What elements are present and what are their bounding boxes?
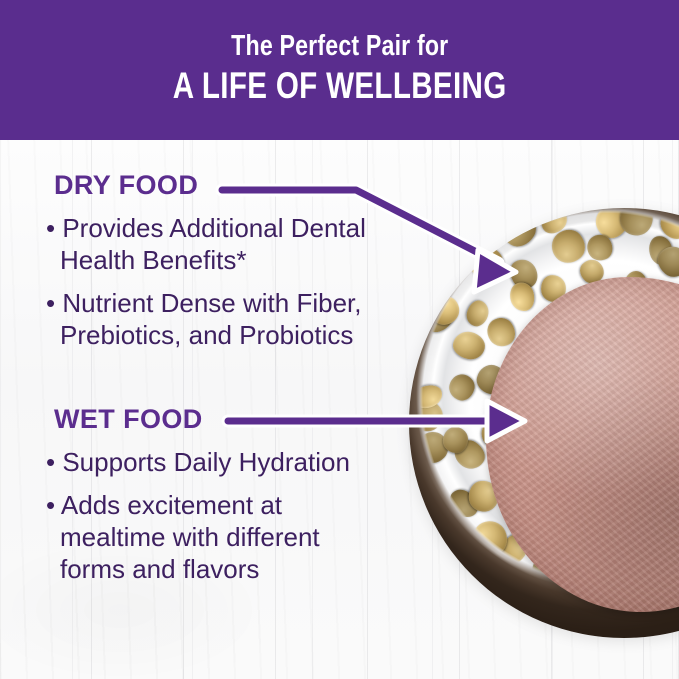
bullet-text: Nutrient Dense with Fiber, Prebiotics, a…: [60, 288, 361, 350]
bullet-dot-icon: •: [46, 490, 55, 520]
bullet-dot-icon: •: [46, 447, 55, 477]
banner-line-1: The Perfect Pair for: [231, 30, 448, 62]
promo-graphic: The Perfect Pair for A LIFE OF WELLBEING…: [0, 0, 679, 679]
list-item: • Adds excitement at mealtime with diffe…: [46, 489, 376, 585]
wet-food-bullet-list: • Supports Daily Hydration • Adds excite…: [46, 446, 376, 596]
list-item: • Nutrient Dense with Fiber, Prebiotics,…: [46, 287, 376, 351]
dry-food-bullet-list: • Provides Additional Dental Health Bene…: [46, 212, 376, 362]
bullet-text: Provides Additional Dental Health Benefi…: [60, 213, 366, 275]
bullet-dot-icon: •: [46, 288, 55, 318]
content-layer: DRY FOOD • Provides Additional Dental He…: [0, 140, 679, 679]
header-banner: The Perfect Pair for A LIFE OF WELLBEING: [0, 0, 679, 140]
bullet-text: Adds excitement at mealtime with differe…: [60, 490, 320, 584]
list-item: • Provides Additional Dental Health Bene…: [46, 212, 376, 276]
banner-headline: A LIFE OF WELLBEING: [173, 66, 507, 106]
wet-food-heading: WET FOOD: [54, 406, 203, 433]
dry-food-heading: DRY FOOD: [54, 172, 198, 199]
bullet-text: Supports Daily Hydration: [62, 447, 350, 477]
list-item: • Supports Daily Hydration: [46, 446, 376, 478]
bullet-dot-icon: •: [46, 213, 55, 243]
